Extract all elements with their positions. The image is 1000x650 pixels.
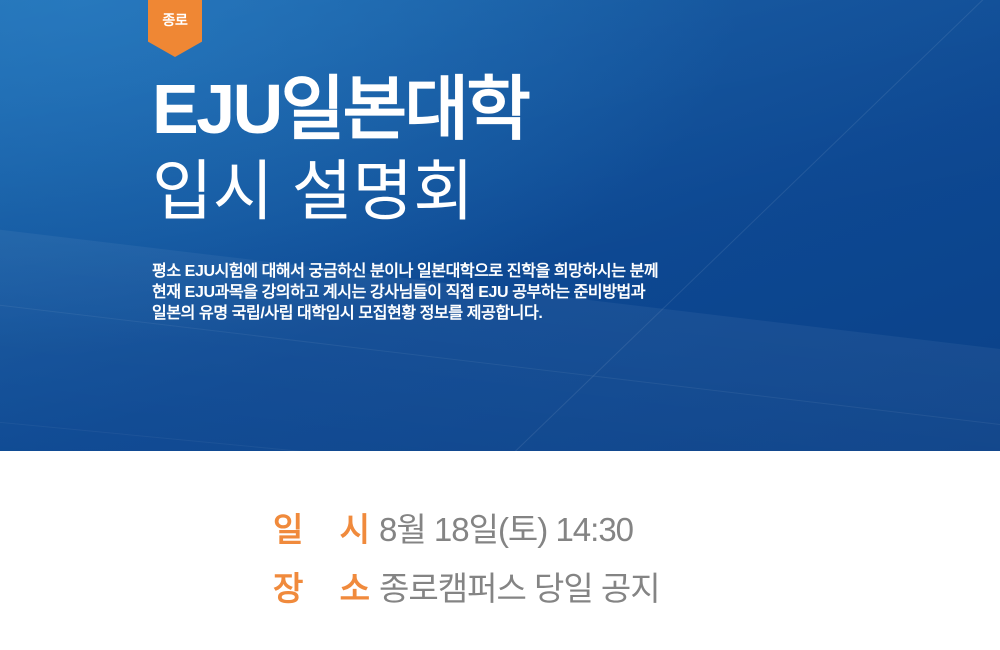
- page-subtitle: 입시 설명회: [152, 158, 912, 224]
- event-detail-value-location: 종로캠퍼스 당일 공지: [379, 562, 660, 610]
- description-line-3: 일본의 유명 국립/사립 대학입시 모집현황 정보를 제공합니다.: [152, 303, 852, 324]
- headline-group: EJU일본대학 입시 설명회: [152, 74, 912, 224]
- event-details-section: 일 시 8월 18일(토) 14:30 장 소 종로캠퍼스 당일 공지: [0, 451, 1000, 650]
- diagonal-streak-top-right: [498, 0, 1000, 451]
- description-line-2: 현재 EJU과목을 강의하고 계시는 강사님들이 직접 EJU 공부하는 준비방…: [152, 282, 852, 303]
- event-detail-row-location: 장 소 종로캠퍼스 당일 공지: [273, 562, 660, 610]
- brand-ribbon-badge: 종로: [148, 0, 202, 57]
- event-details-list: 일 시 8월 18일(토) 14:30 장 소 종로캠퍼스 당일 공지: [273, 503, 660, 621]
- event-detail-label-date: 일 시: [273, 503, 369, 551]
- page-title: EJU일본대학: [152, 74, 912, 144]
- event-detail-label-location: 장 소: [273, 562, 369, 610]
- description-block: 평소 EJU시험에 대해서 궁금하신 분이나 일본대학으로 진학을 희망하시는 …: [152, 261, 852, 324]
- event-detail-row-date: 일 시 8월 18일(토) 14:30: [273, 503, 660, 551]
- diagonal-streak-bottom: [0, 418, 517, 451]
- description-line-1: 평소 EJU시험에 대해서 궁금하신 분이나 일본대학으로 진학을 희망하시는 …: [152, 261, 852, 282]
- event-poster: 종로 EJU일본대학 입시 설명회 평소 EJU시험에 대해서 궁금하신 분이나…: [0, 0, 1000, 650]
- event-detail-value-date: 8월 18일(토) 14:30: [379, 503, 633, 551]
- event-detail-label-date-char2: 시: [340, 503, 369, 551]
- event-detail-label-date-char1: 일: [273, 503, 302, 551]
- event-detail-label-location-char2: 소: [340, 562, 369, 610]
- hero-sheen-lower: [0, 218, 1000, 451]
- brand-ribbon-label: 종로: [162, 13, 187, 27]
- hero-banner: 종로 EJU일본대학 입시 설명회 평소 EJU시험에 대해서 궁금하신 분이나…: [0, 0, 1000, 451]
- event-detail-label-location-char1: 장: [273, 562, 302, 610]
